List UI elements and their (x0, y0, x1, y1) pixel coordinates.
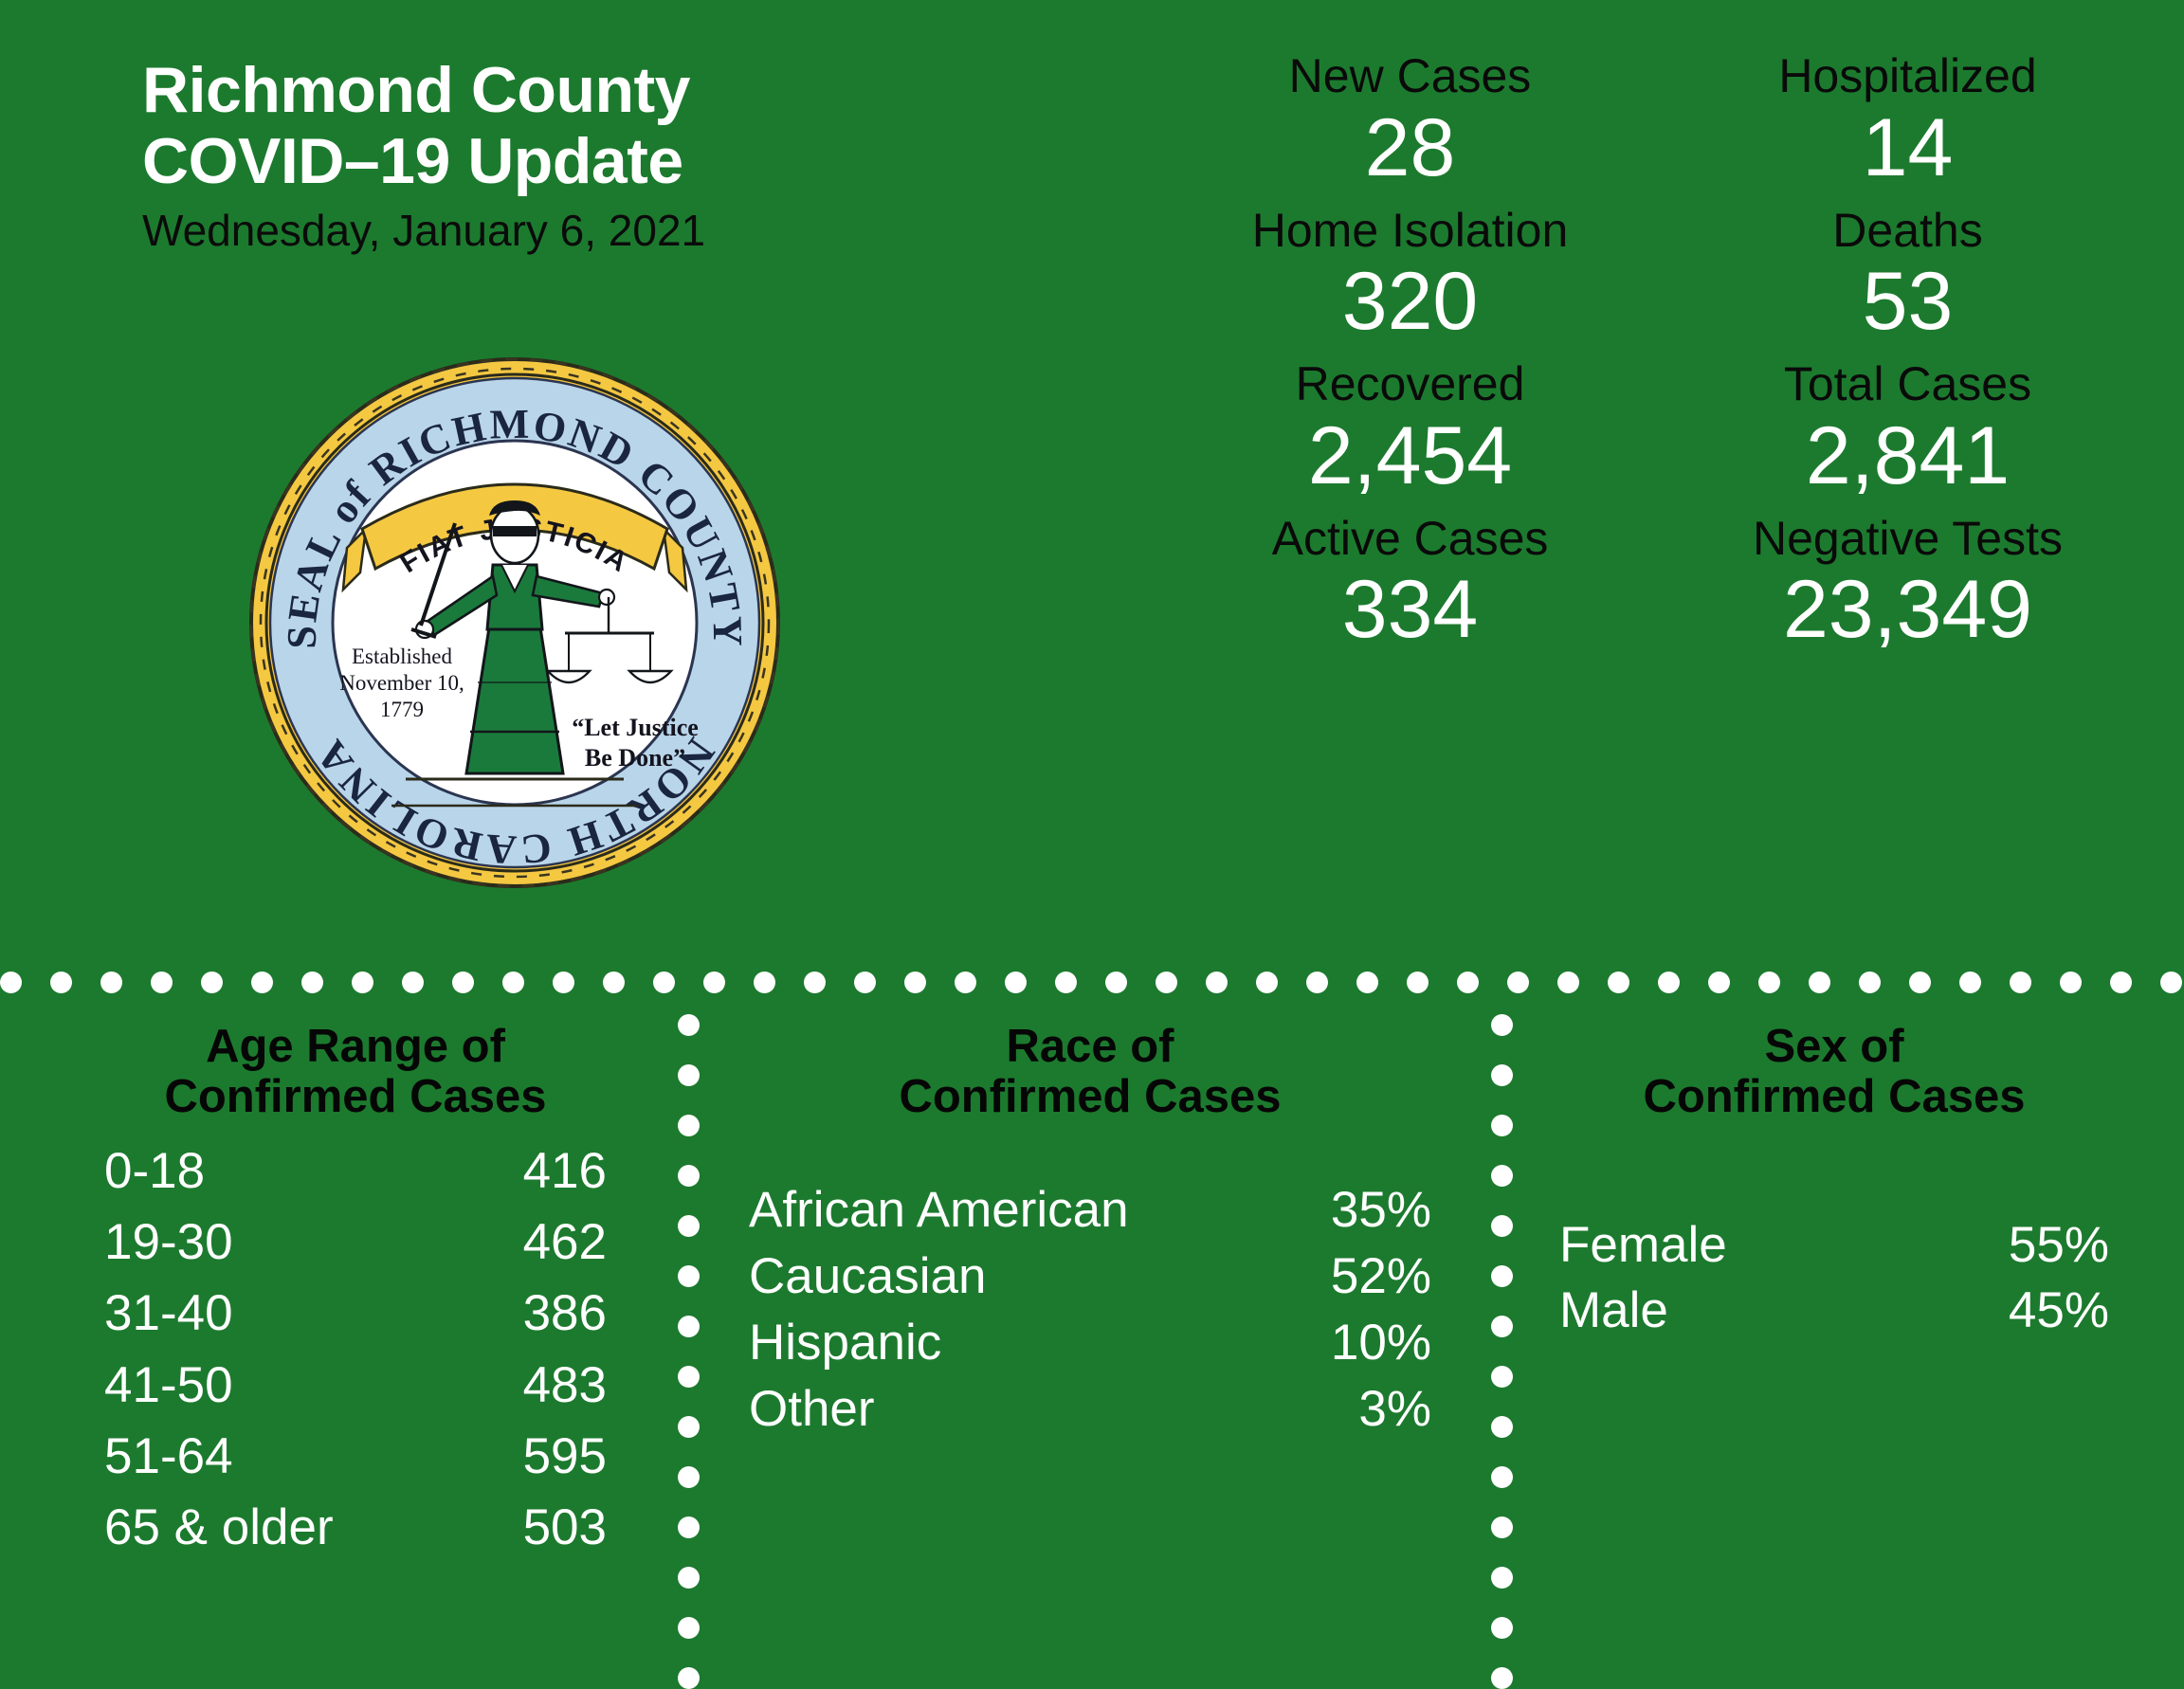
row-label: 41-50 (104, 1350, 233, 1421)
row-value: 595 (523, 1421, 607, 1492)
divider-dot (352, 972, 373, 993)
divider-dot (1708, 972, 1730, 993)
divider-dot (904, 972, 926, 993)
row-label: Caucasian (749, 1244, 986, 1310)
stat-value: 2,454 (1166, 415, 1654, 497)
stat-label: Negative Tests (1664, 514, 2152, 564)
divider-dot (251, 972, 273, 993)
divider-horizontal-dotted (0, 971, 2184, 993)
divider-dot (754, 972, 775, 993)
stat-value: 28 (1166, 107, 1654, 189)
stat-label: Hospitalized (1664, 51, 2152, 101)
list-item: Male 45% (1559, 1279, 2109, 1344)
row-value: 10% (1331, 1310, 1431, 1376)
row-value: 483 (523, 1350, 607, 1421)
divider-dot (1859, 972, 1881, 993)
list-item: 31-40 386 (104, 1278, 607, 1349)
row-value: 503 (523, 1492, 607, 1563)
divider-dot (151, 972, 173, 993)
page-title-line-1: Richmond County (142, 55, 901, 126)
divider-dot (1356, 972, 1378, 993)
row-label: 51-64 (104, 1421, 233, 1492)
row-label: 31-40 (104, 1278, 233, 1349)
row-value: 3% (1358, 1376, 1431, 1443)
stat-active-cases: Active Cases 334 (1166, 514, 1654, 668)
divider-dot (1005, 972, 1027, 993)
stat-value: 2,841 (1664, 415, 2152, 497)
svg-text:Established: Established (352, 645, 453, 668)
panel-sex: Sex of Confirmed Cases Female 55% Male 4… (1559, 1022, 2109, 1344)
divider-dot (1658, 972, 1680, 993)
row-label: African American (749, 1177, 1129, 1244)
divider-dot (301, 972, 323, 993)
row-label: 19-30 (104, 1207, 233, 1278)
bottom-section: Age Range of Confirmed Cases 0-18 416 19… (0, 993, 2184, 1638)
divider-dot (854, 972, 876, 993)
panel-age-range: Age Range of Confirmed Cases 0-18 416 19… (104, 1022, 607, 1563)
divider-dot (553, 972, 574, 993)
list-item: Hispanic 10% (749, 1310, 1431, 1376)
divider-dot (1557, 972, 1579, 993)
row-value: 462 (523, 1207, 607, 1278)
stat-home-isolation: Home Isolation 320 (1166, 206, 1654, 360)
row-value: 416 (523, 1135, 607, 1207)
stat-label: Total Cases (1664, 359, 2152, 409)
panel-title-line-1: Age Range of (104, 1022, 607, 1072)
row-label: Female (1559, 1213, 1727, 1279)
stats-grid: New Cases 28 Home Isolation 320 Recovere… (1166, 51, 2152, 904)
divider-dot (955, 972, 976, 993)
divider-dot (1491, 1667, 1513, 1689)
stat-value: 320 (1166, 261, 1654, 342)
divider-dot (502, 972, 524, 993)
panel-rows: Female 55% Male 45% (1559, 1213, 2109, 1344)
stats-column-right: Hospitalized 14 Deaths 53 Total Cases 2,… (1664, 51, 2152, 904)
stat-value: 334 (1166, 569, 1654, 650)
list-item: Female 55% (1559, 1213, 2109, 1279)
stat-hospitalized: Hospitalized 14 (1664, 51, 2152, 206)
stat-label: Home Isolation (1166, 206, 1654, 256)
panel-title-line-2: Confirmed Cases (749, 1072, 1431, 1122)
divider-dot (2060, 972, 2082, 993)
divider-dot (452, 972, 474, 993)
row-value: 52% (1331, 1244, 1431, 1310)
stats-column-left: New Cases 28 Home Isolation 320 Recovere… (1166, 51, 1654, 904)
row-value: 55% (2009, 1213, 2109, 1279)
row-label: Hispanic (749, 1310, 941, 1376)
divider-dot (678, 1667, 700, 1689)
divider-dot (100, 972, 122, 993)
row-value: 386 (523, 1278, 607, 1349)
headline-block: Richmond County COVID–19 Update Wednesda… (142, 55, 901, 256)
panel-title-line-2: Confirmed Cases (104, 1072, 607, 1122)
row-label: Male (1559, 1279, 1668, 1344)
panel-rows: African American 35% Caucasian 52% Hispa… (749, 1177, 1431, 1443)
divider-dot (2110, 972, 2132, 993)
divider-dot (1407, 972, 1429, 993)
stat-negative-tests: Negative Tests 23,349 (1664, 514, 2152, 668)
divider-dot (50, 972, 72, 993)
stat-value: 14 (1664, 107, 2152, 189)
stat-deaths: Deaths 53 (1664, 206, 2152, 360)
top-section: Richmond County COVID–19 Update Wednesda… (0, 0, 2184, 957)
divider-dot (2010, 972, 2031, 993)
row-label: 65 & older (104, 1492, 334, 1563)
stat-label: New Cases (1166, 51, 1654, 101)
row-label: 0-18 (104, 1135, 205, 1207)
svg-text:“Let Justice: “Let Justice (572, 714, 699, 741)
stat-value: 23,349 (1664, 569, 2152, 650)
divider-dot (1306, 972, 1328, 993)
divider-dot (703, 972, 725, 993)
stat-new-cases: New Cases 28 (1166, 51, 1654, 206)
page-title-line-2: COVID–19 Update (142, 126, 901, 197)
divider-dot (1608, 972, 1629, 993)
panel-title-line-1: Race of (749, 1022, 1431, 1072)
divider-dot (201, 972, 223, 993)
divider-dot (402, 972, 424, 993)
divider-dot (1809, 972, 1830, 993)
panel-race: Race of Confirmed Cases African American… (749, 1022, 1431, 1443)
divider-dot (2160, 972, 2182, 993)
svg-text:1779: 1779 (380, 698, 424, 721)
county-seal: SEAL of RICHMOND COUNTY NORTH CAROLINA F… (245, 353, 785, 893)
divider-dot (1959, 972, 1981, 993)
divider-dot (0, 972, 22, 993)
divider-dot (653, 972, 675, 993)
divider-dot (804, 972, 826, 993)
list-item: 41-50 483 (104, 1350, 607, 1421)
list-item: 65 & older 503 (104, 1492, 607, 1563)
list-item: 0-18 416 (104, 1135, 607, 1207)
svg-text:November 10,: November 10, (339, 671, 464, 695)
stat-label: Recovered (1166, 359, 1654, 409)
divider-dot (1256, 972, 1278, 993)
row-value: 35% (1331, 1177, 1431, 1244)
divider-dot (1909, 972, 1931, 993)
update-date: Wednesday, January 6, 2021 (142, 205, 901, 256)
list-item: Caucasian 52% (749, 1244, 1431, 1310)
list-item: Other 3% (749, 1376, 1431, 1443)
svg-text:Be Done”: Be Done” (585, 744, 685, 772)
divider-dot (1507, 972, 1529, 993)
panel-title-line-1: Sex of (1559, 1022, 2109, 1072)
divider-dot (1156, 972, 1177, 993)
divider-dot (1457, 972, 1479, 993)
stat-value: 53 (1664, 261, 2152, 342)
divider-dot (1206, 972, 1228, 993)
list-item: 51-64 595 (104, 1421, 607, 1492)
row-label: Other (749, 1376, 875, 1443)
stat-recovered: Recovered 2,454 (1166, 359, 1654, 514)
stat-total-cases: Total Cases 2,841 (1664, 359, 2152, 514)
list-item: African American 35% (749, 1177, 1431, 1244)
divider-dot (1758, 972, 1780, 993)
row-value: 45% (2009, 1279, 2109, 1344)
divider-dot (1055, 972, 1077, 993)
divider-dot (603, 972, 625, 993)
divider-dot (1105, 972, 1127, 993)
stat-label: Active Cases (1166, 514, 1654, 564)
list-item: 19-30 462 (104, 1207, 607, 1278)
panel-title-line-2: Confirmed Cases (1559, 1072, 2109, 1122)
stat-label: Deaths (1664, 206, 2152, 256)
panel-rows: 0-18 416 19-30 462 31-40 386 41-50 483 5… (104, 1135, 607, 1564)
